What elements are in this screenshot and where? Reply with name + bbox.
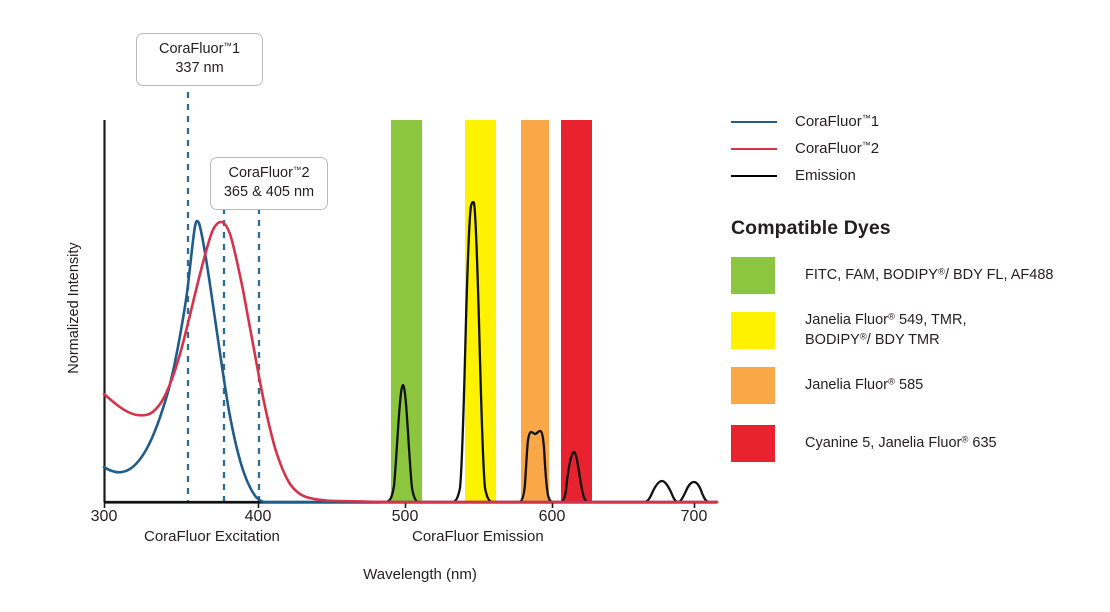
band-green <box>391 120 422 502</box>
x-axis-title: Wavelength (nm) <box>270 566 570 583</box>
tm-symbol: ™ <box>862 140 871 150</box>
dye-swatch-green <box>731 257 775 294</box>
x-sub-label-emission: CoraFluor Emission <box>412 528 544 545</box>
legend-label-corafluor2: CoraFluor™2 <box>795 140 879 157</box>
dye-label-yellow-line1: Janelia Fluor® 549, TMR, <box>805 311 966 331</box>
callout1-tm: ™ <box>223 40 232 50</box>
callout1-name: CoraFluor <box>159 41 223 57</box>
x-sub-label-excitation: CoraFluor Excitation <box>144 528 280 545</box>
dye-label-green: FITC, FAM, BODIPY®/ BDY FL, AF488 <box>805 266 1053 286</box>
callout2-value: 365 & 405 nm <box>221 183 317 202</box>
chart-figure: CoraFluor™1 337 nm CoraFluor™2 365 & 405… <box>0 0 1110 612</box>
legend-swatch-line-emission <box>731 175 777 177</box>
dye-swatch-orange <box>731 367 775 404</box>
callout1-value: 337 nm <box>147 59 252 78</box>
dye-label-red: Cyanine 5, Janelia Fluor® 635 <box>805 434 997 454</box>
compatible-dyes-heading: Compatible Dyes <box>731 217 1101 240</box>
legend-label-corafluor1: CoraFluor™1 <box>795 113 879 130</box>
legend-panel: CoraFluor™1 CoraFluor™2 Emission Compati… <box>731 108 1101 462</box>
dye-swatch-yellow <box>731 312 775 349</box>
legend-swatch-line-corafluor1 <box>731 121 777 123</box>
x-tick-400: 400 <box>228 508 288 526</box>
legend-item-emission: Emission <box>731 162 1101 189</box>
dye-label-yellow: Janelia Fluor® 549, TMR, BODIPY®/ BDY TM… <box>805 311 966 350</box>
x-tick-700: 700 <box>664 508 724 526</box>
dye-label-orange: Janelia Fluor® 585 <box>805 376 923 396</box>
callout2-name: CoraFluor <box>228 165 292 181</box>
dye-item-green: FITC, FAM, BODIPY®/ BDY FL, AF488 <box>731 257 1101 294</box>
band-yellow <box>465 120 496 502</box>
legend-item-corafluor1: CoraFluor™1 <box>731 108 1101 135</box>
dye-item-red: Cyanine 5, Janelia Fluor® 635 <box>731 425 1101 462</box>
dye-item-orange: Janelia Fluor® 585 <box>731 367 1101 404</box>
y-axis-label: Normalized Intensity <box>66 208 82 408</box>
callout2-index: 2 <box>301 165 309 181</box>
legend-item-corafluor2: CoraFluor™2 <box>731 135 1101 162</box>
callout-corafluor2: CoraFluor™2 365 & 405 nm <box>210 157 328 210</box>
callout1-index: 1 <box>232 41 240 57</box>
dye-item-yellow: Janelia Fluor® 549, TMR, BODIPY®/ BDY TM… <box>731 311 1101 350</box>
registered-symbol: ® <box>860 331 867 342</box>
registered-symbol: ® <box>888 377 895 388</box>
legend-swatch-line-corafluor2 <box>731 148 777 150</box>
registered-symbol: ® <box>888 312 895 323</box>
callout-corafluor1: CoraFluor™1 337 nm <box>136 33 263 86</box>
band-red <box>561 120 592 502</box>
dye-swatch-red <box>731 425 775 462</box>
x-tick-600: 600 <box>522 508 582 526</box>
compatible-dye-bands <box>391 120 592 502</box>
excitation-marker-lines <box>188 92 259 502</box>
tm-symbol: ™ <box>862 113 871 123</box>
x-tick-500: 500 <box>375 508 435 526</box>
x-tick-300: 300 <box>74 508 134 526</box>
registered-symbol: ® <box>938 266 945 277</box>
legend-label-emission: Emission <box>795 167 856 184</box>
dye-label-yellow-line2: BODIPY®/ BDY TMR <box>805 331 966 351</box>
